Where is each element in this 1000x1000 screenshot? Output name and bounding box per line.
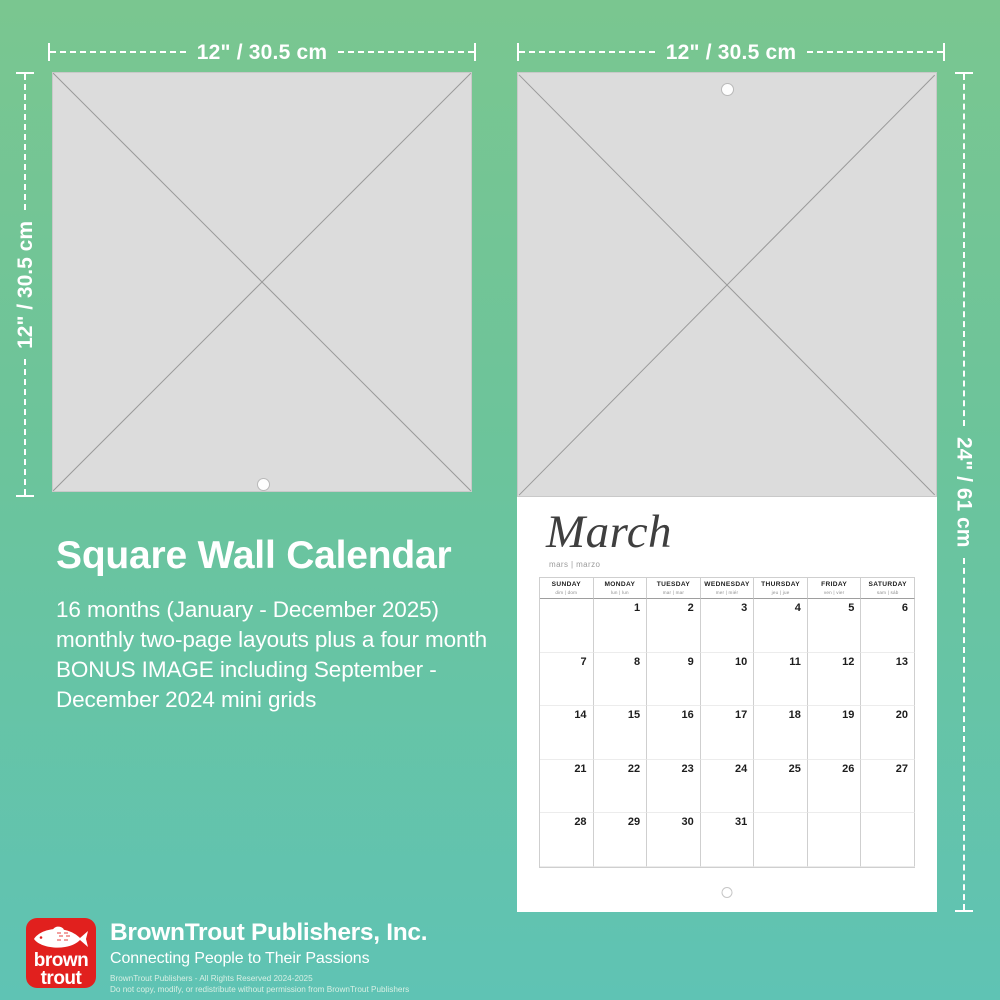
calendar-day-number: 23 [681, 763, 693, 775]
calendar-day-cell[interactable]: 19 [808, 706, 862, 760]
dimension-left-label: 12" / 30.5 cm [15, 210, 36, 360]
calendar-weekday-header: SUNDAYdim | dom [540, 577, 594, 599]
dimension-left: 12" / 30.5 cm [14, 72, 36, 497]
dimension-right-label: 24" / 61 cm [954, 426, 975, 558]
weekday-name-translated: mar | mar [663, 590, 684, 595]
calendar-day-cell[interactable]: 30 [647, 813, 701, 867]
hole-punch-left-panel [257, 478, 270, 491]
calendar-day-number: 14 [574, 709, 586, 721]
calendar-day-number: 30 [681, 816, 693, 828]
calendar-day-number: 1 [634, 602, 640, 614]
calendar-day-cell[interactable]: 13 [861, 653, 915, 707]
calendar-day-number: 15 [628, 709, 640, 721]
copyright-notice: BrownTrout Publishers - All Rights Reser… [110, 974, 427, 996]
publisher-tagline: Connecting People to Their Passions [110, 949, 427, 968]
calendar-day-cell[interactable] [861, 813, 915, 867]
calendar-weekday-header: FRIDAYven | vier [808, 577, 862, 599]
weekday-name: FRIDAY [821, 581, 847, 589]
calendar-weekday-header: SATURDAYsam | sáb [861, 577, 915, 599]
calendar-day-number: 16 [681, 709, 693, 721]
calendar-day-number: 29 [628, 816, 640, 828]
calendar-weekday-header: THURSDAYjeu | jue [754, 577, 808, 599]
dimension-top-right-label: 12" / 30.5 cm [655, 42, 807, 63]
weekday-name-translated: dim | dom [555, 590, 577, 595]
dimension-dash-bottom [24, 359, 26, 495]
calendar-day-cell[interactable]: 23 [647, 760, 701, 814]
calendar-day-cell[interactable]: 27 [861, 760, 915, 814]
calendar-day-cell[interactable]: 4 [754, 599, 808, 653]
calendar-day-cell[interactable]: 28 [540, 813, 594, 867]
calendar-day-cell[interactable]: 1 [594, 599, 648, 653]
calendar-day-cell[interactable]: 31 [701, 813, 755, 867]
calendar-day-cell[interactable]: 12 [808, 653, 862, 707]
calendar-day-cell[interactable]: 22 [594, 760, 648, 814]
copyright-line-2: Do not copy, modify, or redistribute wit… [110, 985, 427, 996]
calendar-day-cell[interactable]: 11 [754, 653, 808, 707]
dimension-dash-top [963, 74, 965, 426]
dimension-cap-end [16, 495, 34, 497]
calendar-day-number: 26 [842, 763, 854, 775]
calendar-day-number: 17 [735, 709, 747, 721]
dimension-right: 24" / 61 cm [953, 72, 975, 912]
product-description: 16 months (January - December 2025) mont… [56, 595, 506, 715]
weekday-name-translated: ven | vier [824, 590, 845, 595]
calendar-day-number: 28 [574, 816, 586, 828]
calendar-day-cell[interactable]: 5 [808, 599, 862, 653]
weekday-name: SUNDAY [552, 581, 581, 589]
calendar-day-number: 11 [789, 656, 801, 668]
weekday-name: SATURDAY [869, 581, 907, 589]
calendar-day-number: 13 [896, 656, 908, 668]
calendar-day-number: 31 [735, 816, 747, 828]
calendar-day-cell[interactable] [808, 813, 862, 867]
hole-punch-right-panel [721, 83, 734, 96]
calendar-weekday-header: MONDAYlun | lun [594, 577, 648, 599]
calendar-day-cell[interactable]: 8 [594, 653, 648, 707]
calendar-day-number: 4 [795, 602, 801, 614]
calendar-day-cell[interactable]: 9 [647, 653, 701, 707]
calendar-day-number: 22 [628, 763, 640, 775]
calendar-day-cell[interactable]: 18 [754, 706, 808, 760]
calendar-day-number: 25 [789, 763, 801, 775]
calendar-day-cell[interactable]: 20 [861, 706, 915, 760]
calendar-day-number: 3 [741, 602, 747, 614]
dimension-cap-end [943, 43, 945, 61]
calendar-image-panel-right [517, 72, 937, 497]
footer-text: BrownTrout Publishers, Inc. Connecting P… [110, 918, 427, 996]
dimension-top-left-label: 12" / 30.5 cm [186, 42, 338, 63]
calendar-month-title: March [546, 509, 672, 556]
calendar-day-number: 8 [634, 656, 640, 668]
dimension-cap-end [955, 910, 973, 912]
dimension-dash-left [50, 51, 186, 53]
dimension-dash-left [519, 51, 655, 53]
calendar-day-number: 27 [896, 763, 908, 775]
copyright-line-1: BrownTrout Publishers - All Rights Reser… [110, 974, 427, 985]
calendar-day-cell[interactable]: 14 [540, 706, 594, 760]
weekday-name-translated: jeu | jue [772, 590, 790, 595]
calendar-day-number: 24 [735, 763, 747, 775]
calendar-day-cell[interactable]: 3 [701, 599, 755, 653]
calendar-grid: SUNDAYdim | domMONDAYlun | lunTUESDAYmar… [539, 577, 915, 868]
calendar-day-number: 21 [574, 763, 586, 775]
calendar-day-cell[interactable]: 10 [701, 653, 755, 707]
calendar-day-cell[interactable]: 26 [808, 760, 862, 814]
weekday-name: MONDAY [604, 581, 635, 589]
calendar-day-cell[interactable] [754, 813, 808, 867]
logo-word-trout: trout [26, 969, 96, 988]
dimension-dash-right [807, 51, 943, 53]
calendar-day-cell[interactable]: 25 [754, 760, 808, 814]
browntrout-logo: brown trout [26, 918, 96, 988]
calendar-day-cell[interactable]: 15 [594, 706, 648, 760]
calendar-day-number: 18 [789, 709, 801, 721]
calendar-day-number: 10 [735, 656, 747, 668]
calendar-grid-page: March mars | marzo SUNDAYdim | domMONDAY… [517, 497, 937, 912]
calendar-day-number: 9 [688, 656, 694, 668]
calendar-day-cell[interactable]: 21 [540, 760, 594, 814]
calendar-day-number: 7 [580, 656, 586, 668]
product-copy: Square Wall Calendar 16 months (January … [56, 536, 506, 715]
weekday-name-translated: mer | miér [716, 590, 739, 595]
calendar-month-subtitle: mars | marzo [549, 560, 600, 569]
calendar-day-number: 2 [688, 602, 694, 614]
calendar-day-cell[interactable]: 2 [647, 599, 701, 653]
weekday-name-translated: lun | lun [611, 590, 629, 595]
calendar-day-cell[interactable]: 7 [540, 653, 594, 707]
dimension-cap-end [474, 43, 476, 61]
calendar-day-cell[interactable]: 16 [647, 706, 701, 760]
calendar-day-cell[interactable]: 29 [594, 813, 648, 867]
calendar-weekday-header: TUESDAYmar | mar [647, 577, 701, 599]
calendar-day-cell[interactable]: 17 [701, 706, 755, 760]
weekday-name: THURSDAY [761, 581, 800, 589]
dimension-top-left: 12" / 30.5 cm [48, 41, 476, 63]
weekday-name-translated: sam | sáb [877, 590, 899, 595]
calendar-day-cell[interactable]: 24 [701, 760, 755, 814]
hole-punch-calendar-page [722, 887, 733, 898]
calendar-day-number: 19 [842, 709, 854, 721]
dimension-top-right: 12" / 30.5 cm [517, 41, 945, 63]
calendar-day-number: 6 [902, 602, 908, 614]
weekday-name: TUESDAY [657, 581, 690, 589]
calendar-day-cell[interactable]: 6 [861, 599, 915, 653]
calendar-day-number: 20 [896, 709, 908, 721]
publisher-name: BrownTrout Publishers, Inc. [110, 920, 427, 947]
dimension-dash-right [338, 51, 474, 53]
dimension-dash-top [24, 74, 26, 210]
calendar-day-number: 5 [848, 602, 854, 614]
calendar-weekday-header: WEDNESDAYmer | miér [701, 577, 755, 599]
footer: brown trout BrownTrout Publishers, Inc. … [26, 918, 427, 996]
dimension-dash-bottom [963, 558, 965, 910]
trout-fish-icon [31, 924, 91, 952]
page-title: Square Wall Calendar [56, 536, 506, 577]
poster-stage: 12" / 30.5 cm 12" / 30.5 cm 12" / 30.5 c… [0, 0, 1000, 1000]
calendar-day-number: 12 [842, 656, 854, 668]
weekday-name: WEDNESDAY [704, 581, 749, 589]
calendar-image-panel-left [52, 72, 472, 492]
calendar-day-cell[interactable] [540, 599, 594, 653]
